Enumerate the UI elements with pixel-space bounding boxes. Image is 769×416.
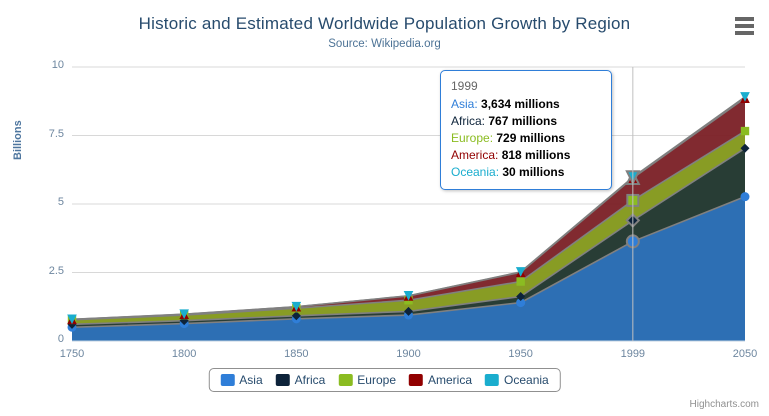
legend-label: Oceania xyxy=(504,373,549,387)
x-axis-tick-label: 1850 xyxy=(266,348,326,360)
tooltip-row-key: America: xyxy=(451,148,502,162)
x-axis-tick-label: 2050 xyxy=(715,348,769,360)
tooltip-row: Europe: 729 millions xyxy=(451,130,601,147)
y-axis-tick-label: 2.5 xyxy=(24,265,64,277)
tooltip-row: Africa: 767 millions xyxy=(451,113,601,130)
tooltip-row-value: 767 millions xyxy=(488,114,557,128)
legend-item-africa[interactable]: Africa xyxy=(276,373,326,387)
x-axis-tick-label: 1950 xyxy=(491,348,551,360)
tooltip-row-key: Asia: xyxy=(451,97,481,111)
legend-swatch-icon xyxy=(338,374,352,386)
tooltip-row-value: 818 millions xyxy=(502,148,571,162)
tooltip-row-key: Europe: xyxy=(451,131,496,145)
tooltip-row-value: 729 millions xyxy=(496,131,565,145)
y-axis-title: Billions xyxy=(12,120,24,160)
legend-swatch-icon xyxy=(276,374,290,386)
x-axis-tick-label: 1900 xyxy=(379,348,439,360)
legend-item-asia[interactable]: Asia xyxy=(220,373,262,387)
tooltip-row-value: 3,634 millions xyxy=(481,97,560,111)
chart-legend: AsiaAfricaEuropeAmericaOceania xyxy=(208,368,560,392)
marker-europe-2050[interactable] xyxy=(741,127,749,135)
y-axis-tick-label: 5 xyxy=(24,196,64,208)
y-axis-tick-label: 0 xyxy=(24,333,64,345)
legend-label: Europe xyxy=(357,373,396,387)
legend-label: America xyxy=(428,373,472,387)
tooltip-row: America: 818 millions xyxy=(451,147,601,164)
legend-item-europe[interactable]: Europe xyxy=(338,373,396,387)
tooltip-rows: Asia: 3,634 millionsAfrica: 767 millions… xyxy=(451,96,601,181)
chart-container: Historic and Estimated Worldwide Populat… xyxy=(0,0,769,416)
tooltip-header: 1999 xyxy=(451,78,601,95)
legend-label: Asia xyxy=(239,373,262,387)
legend-swatch-icon xyxy=(409,374,423,386)
y-axis-tick-label: 10 xyxy=(24,59,64,71)
y-axis-tick-label: 7.5 xyxy=(24,128,64,140)
legend-item-america[interactable]: America xyxy=(409,373,472,387)
legend-swatch-icon xyxy=(220,374,234,386)
tooltip-row: Oceania: 30 millions xyxy=(451,164,601,181)
x-axis-tick-label: 1999 xyxy=(603,348,663,360)
tooltip-row: Asia: 3,634 millions xyxy=(451,96,601,113)
tooltip-row-value: 30 millions xyxy=(502,165,564,179)
legend-item-oceania[interactable]: Oceania xyxy=(485,373,549,387)
tooltip-row-key: Africa: xyxy=(451,114,488,128)
chart-credits[interactable]: Highcharts.com xyxy=(690,399,759,410)
marker-europe-1950[interactable] xyxy=(516,277,524,285)
tooltip-row-key: Oceania: xyxy=(451,165,502,179)
marker-asia-2050[interactable] xyxy=(741,192,750,201)
legend-label: Africa xyxy=(295,373,326,387)
x-axis-tick-label: 1800 xyxy=(154,348,214,360)
chart-tooltip: 1999 Asia: 3,634 millionsAfrica: 767 mil… xyxy=(440,70,612,190)
legend-swatch-icon xyxy=(485,374,499,386)
x-axis-tick-label: 1750 xyxy=(42,348,102,360)
